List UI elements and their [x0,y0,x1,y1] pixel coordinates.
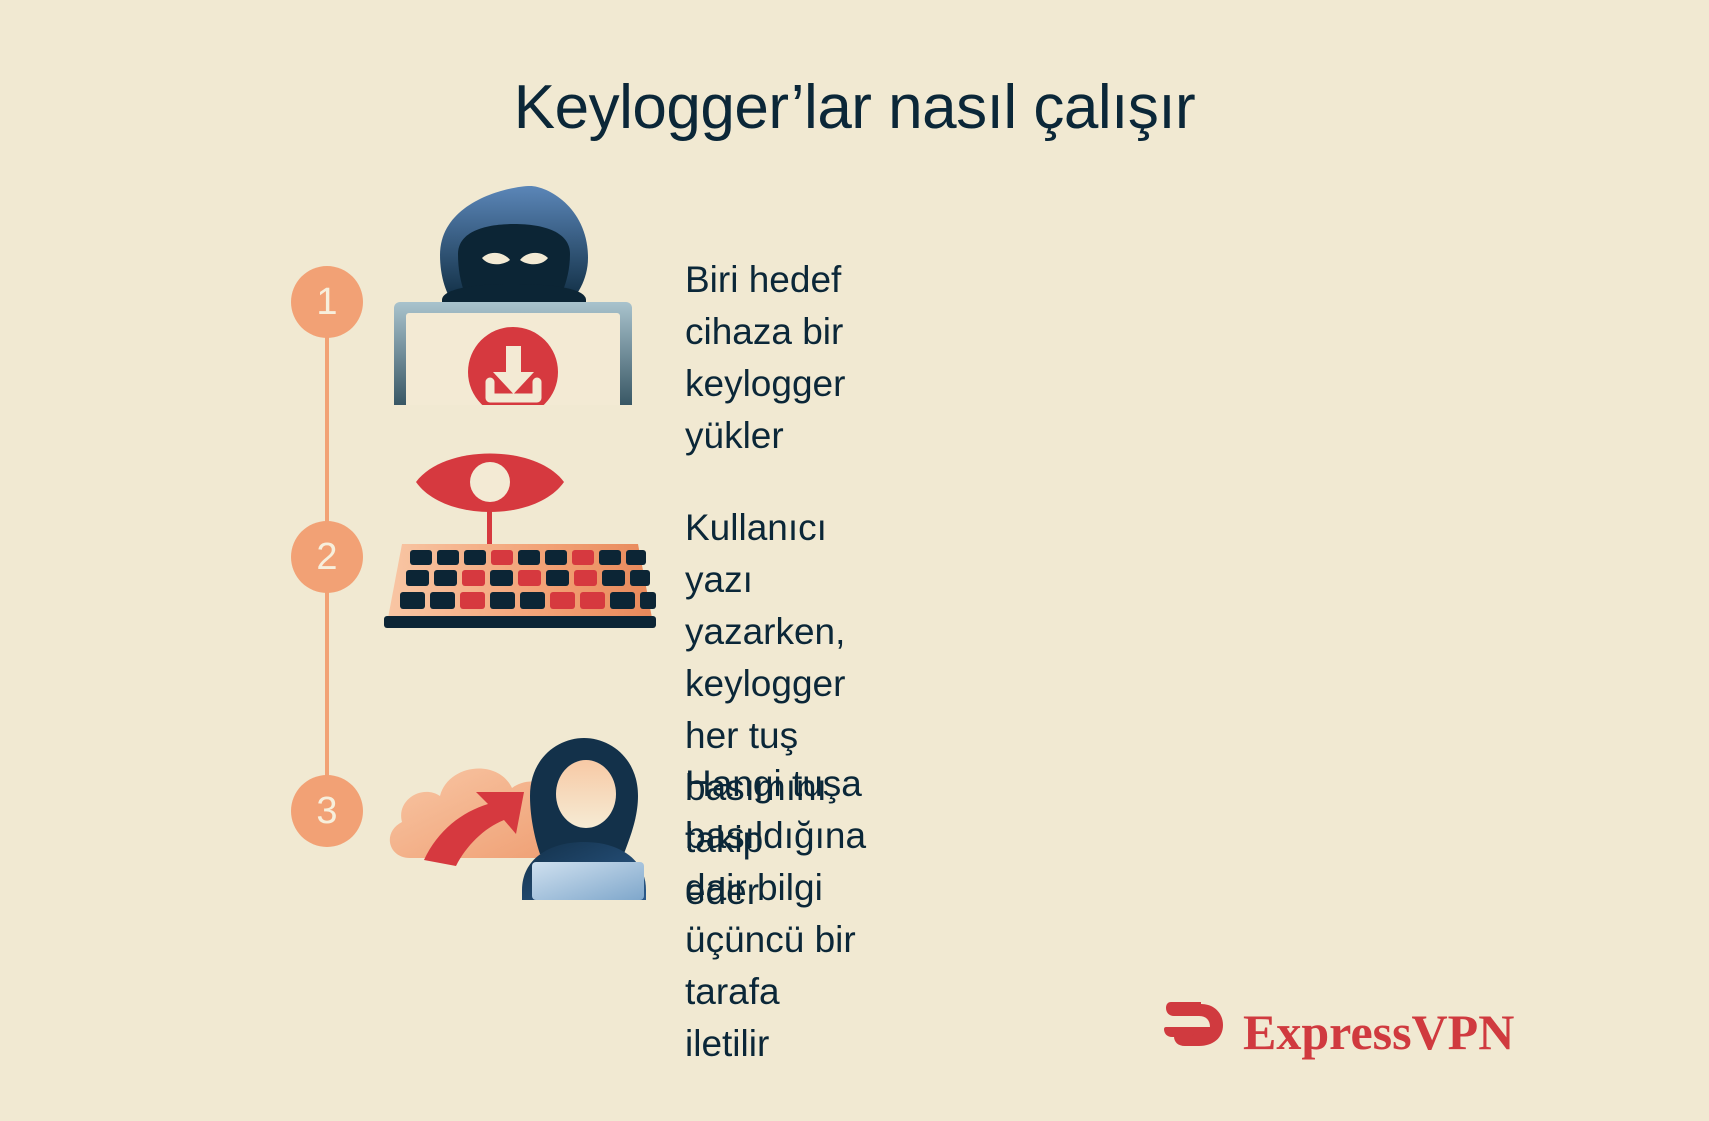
page-title: Keylogger’lar nasıl çalışır [0,72,1709,143]
expressvpn-wordmark: ExpressVPN [1243,1003,1514,1061]
step-caption-1: Biri hedef cihaza bir keylogger yükler [685,254,845,462]
cloud-arrow-hacker-icon [380,700,660,925]
laptop-hacker-download-icon [380,180,660,405]
keyboard-eye-icon [380,440,660,665]
step-badge-2: 2 [291,521,363,593]
expressvpn-logo: ExpressVPN [1163,1000,1514,1064]
step-caption-3: Hangi tuşa basıldığına dair bilgi üçüncü… [685,758,866,1070]
infographic-canvas: Keylogger’lar nasıl çalışır 1 2 3 [0,0,1709,1121]
step-badge-1: 1 [291,266,363,338]
expressvpn-e-mark-icon [1163,998,1227,1067]
step-badge-3: 3 [291,775,363,847]
